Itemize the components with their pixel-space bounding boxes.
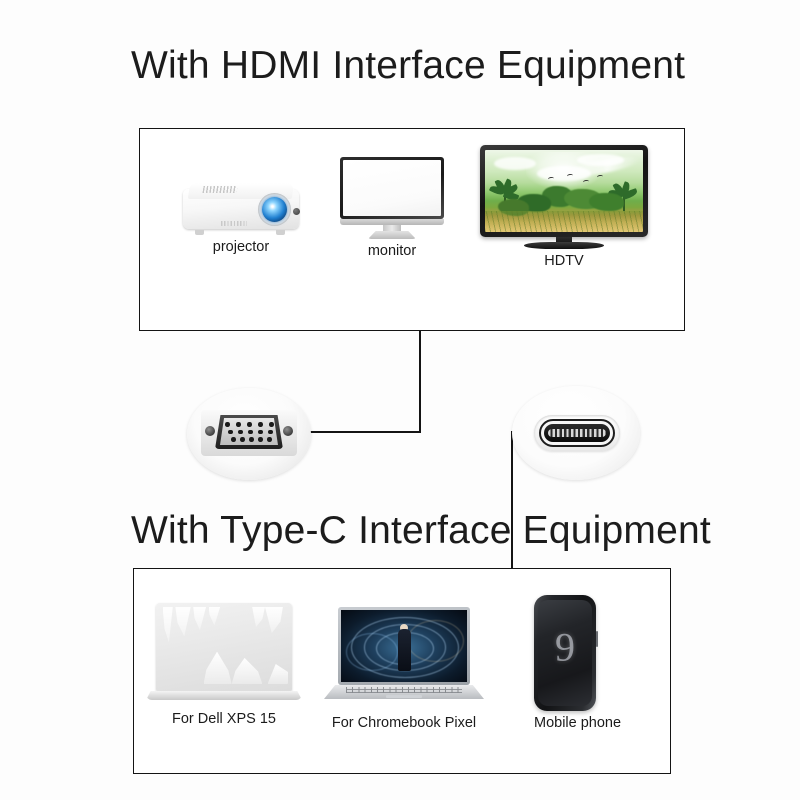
device-monitor: monitor: [340, 157, 444, 259]
infographic-page: With HDMI Interface Equipment projector: [0, 0, 800, 800]
device-label-dell-xps: For Dell XPS 15: [146, 711, 302, 727]
device-label-projector: projector: [179, 239, 303, 255]
device-label-chromebook: For Chromebook Pixel: [324, 715, 484, 731]
device-mobile-phone: 9 Mobile phone: [534, 595, 596, 731]
usb-type-c-connector: [512, 386, 640, 480]
device-label-mobile-phone: Mobile phone: [534, 715, 596, 731]
page-title-typec: With Type-C Interface Equipment: [131, 509, 711, 553]
page-title-hdmi: With HDMI Interface Equipment: [131, 44, 685, 88]
phone-screen-glyph: 9: [538, 623, 592, 670]
typec-devices-panel: For Dell XPS 15: [133, 568, 671, 774]
device-chromebook: For Chromebook Pixel: [324, 607, 484, 731]
monitor-icon: [340, 157, 444, 239]
device-label-hdtv: HDTV: [480, 253, 648, 269]
device-hdtv: HDTV: [480, 145, 648, 269]
vga-connector: [187, 388, 311, 480]
hdtv-icon: [480, 145, 648, 249]
wire-vga-horizontal: [305, 431, 421, 433]
smartphone-icon: 9: [534, 595, 596, 711]
device-label-monitor: monitor: [340, 243, 444, 259]
wire-vga-vertical: [419, 331, 421, 432]
device-projector: projector: [179, 173, 303, 255]
laptop-chromebook-icon: [324, 607, 484, 711]
hdmi-devices-panel: projector monitor: [139, 128, 685, 331]
vga-pin-array: [223, 421, 275, 442]
device-dell-xps: For Dell XPS 15: [146, 603, 302, 727]
projector-icon: [179, 173, 303, 235]
laptop-dell-icon: [146, 603, 302, 707]
